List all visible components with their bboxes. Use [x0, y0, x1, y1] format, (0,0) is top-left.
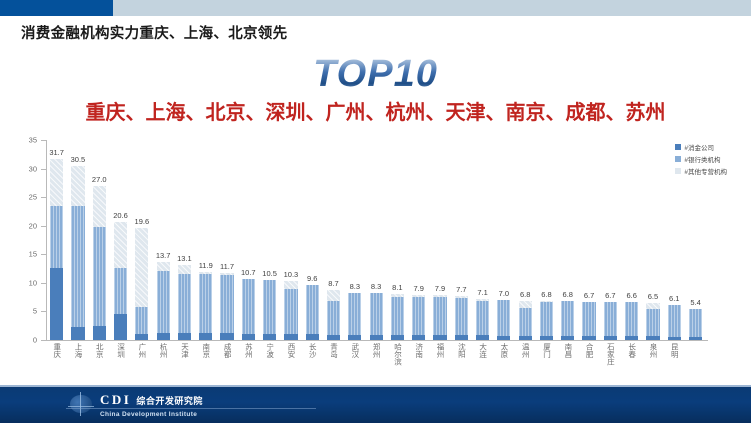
bar-value-label: 7.7	[456, 285, 466, 294]
stacked-bar[interactable]	[561, 301, 574, 340]
bar-segment-b	[455, 298, 468, 336]
x-axis-category-label: 广州	[138, 343, 146, 366]
stacked-bar[interactable]	[306, 285, 319, 340]
top-band-divider	[0, 16, 751, 17]
bar-value-label: 10.5	[262, 269, 277, 278]
bar-column[interactable]: 11.7	[216, 140, 237, 340]
bar-segment-a	[646, 336, 659, 340]
bar-segment-a	[220, 333, 233, 340]
bar-segment-a	[412, 335, 425, 340]
x-axis-label-cell: 大连	[472, 343, 493, 366]
bar-column[interactable]: 27.0	[89, 140, 110, 340]
x-axis-label-cell: 重庆	[46, 343, 67, 366]
bar-segment-b	[348, 293, 361, 335]
bar-segment-a	[114, 314, 127, 340]
bar-value-label: 10.3	[284, 270, 299, 279]
stacked-bar[interactable]	[157, 262, 170, 340]
stacked-bar[interactable]	[604, 302, 617, 340]
bar-segment-a	[284, 334, 297, 340]
x-axis-label-cell: 长沙	[302, 343, 323, 366]
bar-segment-b	[582, 302, 595, 336]
bar-segment-b	[327, 301, 340, 335]
bar-segment-b	[220, 275, 233, 333]
bar-segment-c	[178, 265, 191, 274]
bar-value-label: 8.1	[392, 283, 402, 292]
bar-segment-b	[71, 206, 84, 328]
x-axis-category-label: 重庆	[53, 343, 61, 366]
bar-column[interactable]: 8.3	[365, 140, 386, 340]
bar-value-label: 6.8	[563, 290, 573, 299]
stacked-bar[interactable]	[412, 295, 425, 340]
y-axis-tick-label: 25	[29, 193, 37, 202]
bar-segment-b	[689, 309, 702, 336]
bar-segment-a	[455, 335, 468, 340]
x-axis-category-label: 成都	[223, 343, 231, 366]
bar-segment-a	[391, 335, 404, 340]
x-axis-category-label: 郑州	[372, 343, 380, 366]
bar-segment-b	[646, 309, 659, 336]
legend-label-bank: #银行类机构	[684, 154, 720, 164]
bar-segment-a	[135, 334, 148, 340]
bar-segment-b	[604, 302, 617, 336]
x-axis-label-cell: 宁波	[259, 343, 280, 366]
stacked-bar[interactable]	[455, 296, 468, 340]
bar-segment-b	[668, 305, 681, 336]
bar-segment-c	[93, 186, 106, 227]
x-axis-label-cell: 长春	[621, 343, 642, 366]
bar-column[interactable]: 13.7	[152, 140, 173, 340]
stacked-bar[interactable]	[178, 265, 191, 340]
bar-segment-b	[93, 227, 106, 326]
bar-segment-c	[519, 301, 532, 308]
x-axis-label-cell	[685, 343, 706, 366]
bar-value-label: 27.0	[92, 175, 107, 184]
bar-segment-c	[71, 166, 84, 206]
footer-bar: CDI 综合开发研究院 China Development Institute	[0, 385, 751, 423]
x-axis-category-label: 深圳	[116, 343, 124, 366]
x-axis-label-cell: 济南	[408, 343, 429, 366]
bar-segment-a	[242, 334, 255, 340]
bar-column[interactable]: 6.7	[600, 140, 621, 340]
x-axis-category-label: 杭州	[159, 343, 167, 366]
stacked-bar[interactable]	[519, 301, 532, 340]
legend-item-xiaojin[interactable]: #消金公司	[675, 142, 727, 152]
bar-column[interactable]: 6.7	[578, 140, 599, 340]
bar-column[interactable]: 20.6	[110, 140, 131, 340]
bar-segment-a	[327, 335, 340, 340]
bar-segment-a	[348, 335, 361, 340]
bar-segment-b	[306, 285, 319, 334]
bar-column[interactable]: 6.8	[557, 140, 578, 340]
bar-value-label: 7.9	[413, 284, 423, 293]
stacked-bar[interactable]	[476, 299, 489, 340]
x-axis-category-label: 福州	[436, 343, 444, 366]
bar-column[interactable]: 8.7	[323, 140, 344, 340]
x-axis-category-label: 合肥	[585, 343, 593, 366]
logo-underline	[66, 408, 316, 409]
stacked-bar[interactable]	[433, 295, 446, 340]
bar-value-label: 7.0	[499, 289, 509, 298]
bar-value-label: 6.7	[605, 291, 615, 300]
x-axis-category-label: 上海	[74, 343, 82, 366]
bar-segment-c	[114, 222, 127, 268]
x-axis-label-cell: 武汉	[344, 343, 365, 366]
bar-segment-b	[135, 307, 148, 333]
x-axis-label-cell: 苏州	[238, 343, 259, 366]
bar-column[interactable]: 6.5	[642, 140, 663, 340]
bar-segment-b	[157, 271, 170, 333]
bar-column[interactable]: 6.8	[536, 140, 557, 340]
x-axis-label-cell: 郑州	[365, 343, 386, 366]
legend-swatch-icon-bank	[675, 156, 681, 162]
y-axis-tick-label: 15	[29, 250, 37, 259]
x-axis-category-label: 南京	[202, 343, 210, 366]
x-axis-label-cell: 西安	[280, 343, 301, 366]
bar-segment-b	[370, 293, 383, 335]
bar-segment-a	[199, 333, 212, 340]
globe-equator-line	[68, 406, 94, 407]
bar-value-label: 8.3	[350, 282, 360, 291]
bar-segment-a	[433, 335, 446, 340]
bar-column[interactable]: 6.8	[515, 140, 536, 340]
bar-column[interactable]: 7.0	[493, 140, 514, 340]
x-axis-labels: 重庆上海北京深圳广州杭州天津南京成都苏州宁波西安长沙青岛武汉郑州哈尔滨济南福州沈…	[46, 343, 706, 366]
x-axis-label-cell: 南京	[195, 343, 216, 366]
org-name-cn: 综合开发研究院	[136, 394, 203, 407]
x-axis-label-cell: 广州	[131, 343, 152, 366]
stacked-bar[interactable]	[199, 272, 212, 340]
bar-segment-a	[540, 336, 553, 340]
bar-value-label: 10.7	[241, 268, 256, 277]
bar-segment-b	[50, 206, 63, 268]
bar-segment-a	[263, 334, 276, 340]
chart-container: 05101520253035 31.730.527.020.619.613.71…	[10, 134, 743, 382]
stacked-bar[interactable]	[668, 305, 681, 340]
bar-segment-a	[370, 335, 383, 340]
bar-column[interactable]: 30.5	[67, 140, 88, 340]
stacked-bar[interactable]	[625, 302, 638, 340]
x-axis-category-label: 石家庄	[606, 343, 614, 366]
bar-segment-c	[135, 228, 148, 307]
bar-segment-b	[540, 302, 553, 336]
bar-value-label: 6.8	[520, 290, 530, 299]
legend-label-other: #其他专营机构	[684, 166, 727, 176]
x-axis-label-cell: 天津	[174, 343, 195, 366]
bar-segment-b	[242, 279, 255, 334]
x-axis-label-cell: 泉州	[642, 343, 663, 366]
x-axis-label-cell: 石家庄	[600, 343, 621, 366]
x-axis-category-label: 温州	[521, 343, 529, 366]
page-title: 消费金融机构实力重庆、上海、北京领先	[21, 22, 287, 43]
bar-segment-a	[93, 326, 106, 340]
stacked-bar[interactable]	[93, 186, 106, 340]
bar-column[interactable]: 19.6	[131, 140, 152, 340]
top-decorative-band	[0, 0, 751, 16]
bar-segment-b	[433, 297, 446, 336]
stacked-bar[interactable]	[391, 294, 404, 340]
x-axis-label-cell: 哈尔滨	[387, 343, 408, 366]
stacked-bar[interactable]	[284, 281, 297, 340]
legend-swatch-icon-xiaojin	[675, 144, 681, 150]
stacked-bar[interactable]	[348, 293, 361, 340]
stacked-bar[interactable]	[71, 166, 84, 340]
y-axis-tick-label: 30	[29, 164, 37, 173]
bar-column[interactable]: 7.9	[408, 140, 429, 340]
bar-segment-a	[71, 327, 84, 340]
bar-value-label: 30.5	[71, 155, 86, 164]
bar-segment-b	[497, 300, 510, 336]
bar-column[interactable]: 9.6	[302, 140, 323, 340]
bar-value-label: 6.5	[648, 292, 658, 301]
stacked-bar[interactable]	[114, 222, 127, 340]
bar-value-label: 8.7	[328, 279, 338, 288]
bar-value-label: 9.6	[307, 274, 317, 283]
bar-segment-a	[306, 334, 319, 340]
bar-segment-a	[476, 335, 489, 340]
x-axis-label-cell: 温州	[515, 343, 536, 366]
x-axis-label-cell: 福州	[429, 343, 450, 366]
bar-column[interactable]: 7.1	[472, 140, 493, 340]
bar-column[interactable]: 7.9	[429, 140, 450, 340]
bar-segment-a	[157, 333, 170, 340]
x-axis-category-label: 昆明	[670, 343, 678, 366]
stacked-bar[interactable]	[263, 280, 276, 340]
x-axis-label-cell: 沈阳	[451, 343, 472, 366]
bar-column[interactable]: 7.7	[451, 140, 472, 340]
x-axis-category-label: 长沙	[308, 343, 316, 366]
bar-segment-c	[327, 290, 340, 300]
bar-column[interactable]: 11.9	[195, 140, 216, 340]
stacked-bar[interactable]	[220, 273, 233, 340]
bar-value-label: 6.7	[584, 291, 594, 300]
x-axis-category-label: 武汉	[351, 343, 359, 366]
bar-segment-b	[199, 274, 212, 333]
bar-segment-a	[561, 336, 574, 340]
x-axis-label-cell: 深圳	[110, 343, 131, 366]
bar-column[interactable]: 10.3	[280, 140, 301, 340]
bar-segment-b	[114, 268, 127, 314]
bar-column[interactable]: 31.7	[46, 140, 67, 340]
legend-swatch-icon-other	[675, 168, 681, 174]
org-abbreviation: CDI	[100, 392, 131, 408]
x-axis-category-label: 青岛	[329, 343, 337, 366]
bar-segment-b	[178, 274, 191, 332]
organization-logo: CDI 综合开发研究院 China Development Institute	[100, 392, 203, 418]
x-axis-category-label: 苏州	[244, 343, 252, 366]
bar-value-label: 5.4	[690, 298, 700, 307]
x-axis-category-label: 太原	[500, 343, 508, 366]
bar-segment-b	[561, 301, 574, 336]
y-axis-tick-label: 35	[29, 136, 37, 145]
x-axis-label-cell: 合肥	[578, 343, 599, 366]
bar-segment-b	[284, 289, 297, 334]
x-axis-category-label: 大连	[479, 343, 487, 366]
bar-column[interactable]: 10.5	[259, 140, 280, 340]
x-axis-label-cell: 昆明	[664, 343, 685, 366]
bar-segment-b	[412, 297, 425, 336]
top-band-accent-block	[0, 0, 113, 16]
bar-value-label: 6.6	[626, 291, 636, 300]
x-axis-category-label: 哈尔滨	[393, 343, 401, 366]
legend-item-other[interactable]: #其他专营机构	[675, 166, 727, 176]
bar-segment-a	[668, 337, 681, 340]
bar-segment-a	[689, 337, 702, 340]
x-axis-label-cell: 青岛	[323, 343, 344, 366]
stacked-bar[interactable]	[497, 300, 510, 340]
bar-segment-c	[284, 281, 297, 289]
x-axis-category-label: 沈阳	[457, 343, 465, 366]
stacked-bar[interactable]	[582, 302, 595, 340]
bar-value-label: 11.9	[199, 261, 213, 270]
org-name-en: China Development Institute	[100, 411, 203, 418]
bar-value-label: 7.1	[477, 288, 487, 297]
bar-segment-c	[157, 262, 170, 271]
bar-segment-a	[604, 336, 617, 340]
bar-column[interactable]: 8.3	[344, 140, 365, 340]
bar-column[interactable]: 6.6	[621, 140, 642, 340]
stacked-bar[interactable]	[540, 301, 553, 340]
bar-segment-c	[50, 159, 63, 206]
x-axis-category-label: 北京	[95, 343, 103, 366]
globe-logo-icon	[68, 392, 94, 416]
x-axis-label-cell: 北京	[89, 343, 110, 366]
x-axis-category-label: 泉州	[649, 343, 657, 366]
bar-value-label: 31.7	[49, 148, 64, 157]
y-axis-tick-label: 5	[33, 307, 37, 316]
stacked-bar[interactable]	[327, 290, 340, 340]
bar-value-label: 6.8	[541, 290, 551, 299]
x-axis-category-label: 西安	[287, 343, 295, 366]
bar-value-label: 6.1	[669, 294, 679, 303]
x-axis-label-cell: 太原	[493, 343, 514, 366]
stacked-bar[interactable]	[135, 228, 148, 340]
x-axis-label-cell: 上海	[67, 343, 88, 366]
y-axis-tick-label: 20	[29, 221, 37, 230]
bar-segment-a	[50, 268, 63, 340]
bar-segment-b	[519, 308, 532, 336]
bar-segment-b	[263, 280, 276, 334]
bar-segment-a	[497, 336, 510, 340]
bar-value-label: 13.1	[177, 254, 192, 263]
x-axis-label-cell: 成都	[216, 343, 237, 366]
top10-headline: TOP10	[0, 55, 751, 93]
x-axis-category-label: 南昌	[564, 343, 572, 366]
bar-segment-a	[178, 333, 191, 340]
bar-value-label: 20.6	[113, 211, 128, 220]
x-axis-label-cell: 杭州	[152, 343, 173, 366]
x-axis-label-cell: 厦门	[536, 343, 557, 366]
x-axis-label-cell: 南昌	[557, 343, 578, 366]
x-axis-category-label: 济南	[415, 343, 423, 366]
bar-segment-b	[391, 297, 404, 335]
legend-label-xiaojin: #消金公司	[684, 142, 714, 152]
legend-item-bank[interactable]: #银行类机构	[675, 154, 727, 164]
y-axis-tick-label: 10	[29, 278, 37, 287]
x-axis-category-label: 厦门	[542, 343, 550, 366]
chart-legend: #消金公司 #银行类机构 #其他专营机构	[675, 142, 727, 178]
stacked-bar[interactable]	[242, 279, 255, 340]
bar-segment-a	[582, 336, 595, 340]
stacked-bar[interactable]	[370, 293, 383, 340]
bar-column[interactable]: 13.1	[174, 140, 195, 340]
stacked-bar[interactable]	[689, 309, 702, 340]
bar-column[interactable]: 10.7	[238, 140, 259, 340]
bar-value-label: 19.6	[135, 217, 150, 226]
y-axis-tick-label: 0	[33, 336, 37, 345]
bar-value-label: 11.7	[220, 262, 234, 271]
bar-value-label: 7.9	[435, 284, 445, 293]
bar-segment-a	[519, 336, 532, 340]
x-axis-category-label: 宁波	[266, 343, 274, 366]
bar-column[interactable]: 8.1	[387, 140, 408, 340]
bar-segment-a	[625, 336, 638, 340]
bar-segment-b	[476, 301, 489, 335]
bar-series-group: 31.730.527.020.619.613.713.111.911.710.7…	[46, 140, 706, 340]
x-axis	[46, 340, 708, 341]
x-axis-category-label: 天津	[180, 343, 188, 366]
bar-segment-b	[625, 302, 638, 336]
bar-value-label: 8.3	[371, 282, 381, 291]
stacked-bar[interactable]	[50, 159, 63, 340]
bar-value-label: 13.7	[156, 251, 171, 260]
x-axis-category-label: 长春	[628, 343, 636, 366]
stacked-bar[interactable]	[646, 303, 659, 340]
city-list-subtitle: 重庆、上海、北京、深圳、广州、杭州、天津、南京、成都、苏州	[0, 96, 751, 125]
footer-top-rule	[0, 385, 751, 387]
